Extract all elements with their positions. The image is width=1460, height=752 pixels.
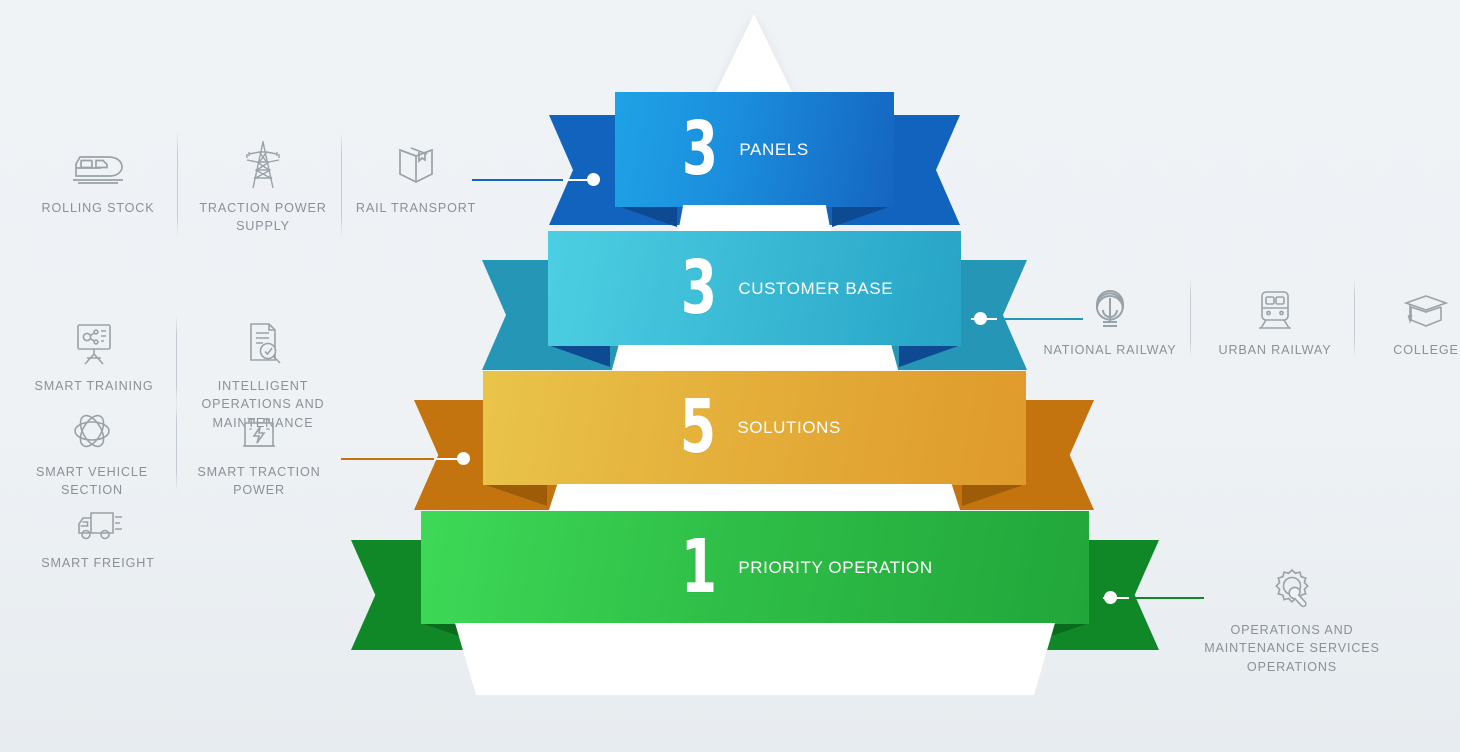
tier-panels-connector-dot — [587, 173, 600, 186]
group-solutions-caption-smart-freight: SMART FREIGHT — [28, 554, 168, 572]
tier-solutions-connector-line-inner — [434, 458, 458, 460]
divider-solutions-2 — [176, 400, 177, 492]
group-panels-caption-rolling-stock: ROLLING STOCK — [28, 199, 168, 217]
group-solutions-item-smart-vehicle-section[interactable]: SMART VEHICLE SECTION — [12, 402, 172, 500]
graduation-cap-icon — [1358, 280, 1460, 332]
presentation-board-icon — [24, 316, 164, 368]
tier-customer-base-number: 3 — [681, 260, 716, 318]
group-solutions-item-smart-training[interactable]: SMART TRAINING — [24, 316, 164, 395]
group-customer-base-item-college[interactable]: COLLEGE — [1358, 280, 1460, 359]
pyramid-base-plinth — [455, 623, 1055, 695]
divider-solutions-1 — [176, 314, 177, 406]
group-panels-item-traction-power-supply[interactable]: TRACTION POWER SUPPLY — [194, 138, 332, 236]
document-search-icon — [183, 316, 343, 368]
group-panels-caption-rail-transport: RAIL TRANSPORT — [348, 199, 484, 217]
tier-priority-operation-connector-dot — [1104, 591, 1117, 604]
group-solutions-caption-smart-traction-power: SMART TRACTION POWER — [183, 463, 335, 500]
group-customer-base-caption-college: COLLEGE — [1358, 341, 1460, 359]
tier-panels-band: 3 PANELS — [615, 92, 894, 207]
gear-wrench-icon — [1192, 560, 1392, 612]
group-priority-operation-item-om-services[interactable]: OPERATIONS AND MAINTENANCE SERVICES OPER… — [1192, 560, 1392, 676]
group-panels-item-rail-transport[interactable]: RAIL TRANSPORT — [348, 138, 484, 217]
divider-panels-1 — [177, 131, 178, 239]
pyramid-apex-icon — [711, 14, 797, 102]
divider-customer-base-1 — [1190, 278, 1191, 358]
tier-panels-connector-line — [472, 179, 576, 181]
tier-panels-label: PANELS — [739, 140, 808, 160]
divider-panels-2 — [341, 131, 342, 239]
tier-priority-operation-label: PRIORITY OPERATION — [738, 558, 932, 578]
group-solutions-caption-smart-training: SMART TRAINING — [24, 377, 164, 395]
tier-customer-base-label: CUSTOMER BASE — [738, 279, 893, 299]
china-railway-logo-icon — [1040, 280, 1180, 332]
train-front-icon — [28, 138, 168, 190]
tier-panels-number: 3 — [682, 121, 717, 179]
tier-priority-operation-band: 1 PRIORITY OPERATION — [421, 511, 1089, 624]
tier-solutions-band: 5 SOLUTIONS — [483, 371, 1026, 485]
battery-bolt-icon — [183, 402, 335, 454]
group-customer-base-caption-national-railway: NATIONAL RAILWAY — [1040, 341, 1180, 359]
tier-solutions-label: SOLUTIONS — [737, 418, 841, 438]
group-solutions-item-smart-freight[interactable]: SMART FREIGHT — [28, 493, 168, 572]
metro-train-icon — [1206, 280, 1344, 332]
tier-panels-connector-line-inner — [563, 179, 587, 181]
truck-icon — [28, 493, 168, 545]
group-solutions-item-smart-traction-power[interactable]: SMART TRACTION POWER — [183, 402, 335, 500]
group-customer-base-caption-urban-railway: URBAN RAILWAY — [1206, 341, 1344, 359]
tier-solutions-number: 5 — [680, 399, 715, 457]
tier-customer-base-band: 3 CUSTOMER BASE — [548, 231, 961, 346]
tier-solutions-connector-line — [341, 458, 446, 460]
tier-priority-operation-number: 1 — [681, 539, 716, 597]
atom-icon — [12, 402, 172, 454]
tier-customer-base-connector-dot — [974, 312, 987, 325]
tier-solutions-connector-dot — [457, 452, 470, 465]
group-panels-caption-traction-power-supply: TRACTION POWER SUPPLY — [194, 199, 332, 236]
group-customer-base-item-national-railway[interactable]: NATIONAL RAILWAY — [1040, 280, 1180, 359]
group-priority-operation-caption-om-services: OPERATIONS AND MAINTENANCE SERVICES OPER… — [1192, 621, 1392, 676]
group-panels-item-rolling-stock[interactable]: ROLLING STOCK — [28, 138, 168, 217]
divider-customer-base-2 — [1354, 278, 1355, 358]
group-customer-base-item-urban-railway[interactable]: URBAN RAILWAY — [1206, 280, 1344, 359]
infographic-canvas: 3 PANELS 3 CUSTOMER BASE — [0, 0, 1460, 752]
package-box-icon — [348, 138, 484, 190]
power-pylon-icon — [194, 138, 332, 190]
